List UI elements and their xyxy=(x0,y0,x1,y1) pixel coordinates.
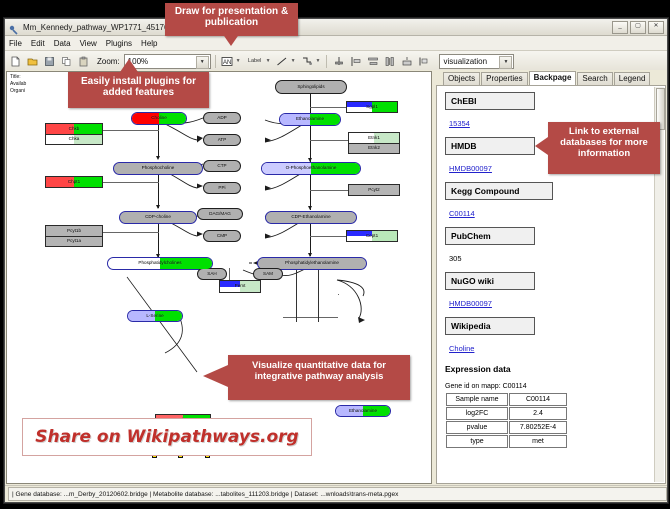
line-dropdown-chevron-icon[interactable]: ▼ xyxy=(291,58,296,64)
menu-item-view[interactable]: View xyxy=(80,39,97,48)
edge-chk-stub xyxy=(103,130,159,131)
svg-text:AN: AN xyxy=(223,60,231,66)
node-pcyt1a[interactable]: Pcyt1a xyxy=(45,236,103,247)
expression-data-table: Sample name C00114 log2FC 2.4 pvalue 7.8… xyxy=(445,392,568,449)
status-text: | Gene database: ...m_Derby_20120602.bri… xyxy=(8,487,667,501)
visualization-combobox[interactable]: visualization ▼ xyxy=(439,54,514,69)
node-cmp[interactable]: CMP xyxy=(203,230,241,242)
label-dropdown-button[interactable]: Label xyxy=(245,54,265,69)
zoom-label: Zoom: xyxy=(97,57,120,66)
paste-icon[interactable] xyxy=(76,54,91,69)
node-o-phosphoethanolamine[interactable]: O-Phosphoethanolamine xyxy=(261,162,361,175)
section-header-chebi: ChEBI xyxy=(445,92,535,110)
menu-item-file[interactable]: File xyxy=(9,39,22,48)
window-title: Mm_Kennedy_pathway_WP1771_45176.gpml xyxy=(23,23,188,32)
toolbar-separator xyxy=(215,55,216,68)
tab-legend[interactable]: Legend xyxy=(614,72,651,85)
callout-links-pointer xyxy=(535,137,548,155)
edge-phosphocholine-cdpcholine xyxy=(158,170,159,208)
link-wikipedia[interactable]: Choline xyxy=(449,344,474,353)
label-style-dropdown-icon[interactable]: ▼ xyxy=(236,58,241,64)
node-chpt1[interactable]: Chpt1 xyxy=(45,176,103,188)
node-ethanolamine-top[interactable]: Ethanolamine xyxy=(279,113,341,126)
save-icon[interactable] xyxy=(42,54,57,69)
toolbar-separator-2 xyxy=(326,55,327,68)
node-ctp[interactable]: CTP xyxy=(203,160,241,172)
node-cept1[interactable]: Cept1 xyxy=(346,230,398,242)
node-atp[interactable]: ATP xyxy=(203,134,241,146)
arrow-icon xyxy=(156,205,160,209)
menu-item-data[interactable]: Data xyxy=(54,39,71,48)
copy-icon[interactable] xyxy=(59,54,74,69)
node-ethanolamine-bottom[interactable]: Ethanolamine xyxy=(335,405,391,417)
distribute-horizontal-icon[interactable] xyxy=(365,54,380,69)
node-etnk2[interactable]: Etnk2 xyxy=(348,143,400,154)
tab-properties[interactable]: Properties xyxy=(481,72,527,85)
section-header-wikipedia: Wikipedia xyxy=(445,317,535,335)
edge-pcyt1-stub xyxy=(103,232,159,233)
tab-search[interactable]: Search xyxy=(577,72,612,85)
node-ppi[interactable]: PPi xyxy=(203,182,241,194)
node-etnk1[interactable]: Etnk1 xyxy=(348,132,400,143)
same-size-icon[interactable] xyxy=(382,54,397,69)
link-hmdb[interactable]: HMDB00097 xyxy=(449,164,492,173)
node-sah[interactable]: SAH xyxy=(197,268,227,280)
group-icon[interactable] xyxy=(416,54,431,69)
toolbar: Zoom: 100% ▼ AN ▼ Label ▼ ▼ ▼ xyxy=(5,51,667,72)
link-nugo[interactable]: HMDB00097 xyxy=(449,299,492,308)
side-panel-tabs: Objects Properties Backpage Search Legen… xyxy=(433,71,666,85)
link-chebi[interactable]: 15354 xyxy=(449,119,470,128)
menu-item-edit[interactable]: Edit xyxy=(31,39,45,48)
edge-cept1-stub xyxy=(310,236,348,237)
edge-etnk-stub xyxy=(310,140,348,141)
edge-ope-cdpetn xyxy=(310,172,311,210)
node-sgpl1[interactable]: Sgpl1 xyxy=(346,101,398,113)
visualization-value: visualization xyxy=(443,57,487,66)
callout-plugins-pointer xyxy=(120,59,138,72)
status-bar: | Gene database: ...m_Derby_20120602.bri… xyxy=(5,485,667,502)
gene-id-line: Gene id on mapp: C00114 xyxy=(445,383,653,390)
callout-links: Link to external databases for more info… xyxy=(548,122,660,174)
visualization-chevron-down-icon[interactable]: ▼ xyxy=(499,56,512,69)
new-file-icon[interactable] xyxy=(8,54,23,69)
cell-value: 2.4 xyxy=(509,407,567,420)
edge-chpt1-stub xyxy=(103,182,159,183)
edge-ethanolamine-ope xyxy=(310,124,311,162)
edge-sgpl1-stub xyxy=(310,107,346,108)
edge-pe-up-1 xyxy=(296,270,297,322)
table-row: type met xyxy=(446,435,567,448)
edge-ptdss2-stub xyxy=(338,294,339,295)
stack-icon[interactable] xyxy=(399,54,414,69)
edge-pcyt2-stub xyxy=(310,190,348,191)
maximize-button[interactable]: ▢ xyxy=(630,21,646,34)
edge-pisd-stub xyxy=(283,317,338,318)
menu-bar: File Edit Data View Plugins Help xyxy=(5,36,667,51)
cell-key: pvalue xyxy=(446,421,508,434)
align-top-icon[interactable] xyxy=(331,54,346,69)
cell-value: met xyxy=(509,435,567,448)
text-label-icon[interactable]: AN xyxy=(220,54,235,69)
title-bar: Mm_Kennedy_pathway_WP1771_45176.gpml _ ▢… xyxy=(5,19,667,36)
node-sphingolipids[interactable]: Sphingolipids xyxy=(275,80,347,94)
connector-icon[interactable] xyxy=(300,54,315,69)
node-cdp-choline[interactable]: CDP-choline xyxy=(119,211,197,224)
node-chkb[interactable]: Chkb xyxy=(45,123,103,134)
edge-cdpetn-pe xyxy=(310,220,311,256)
align-left-icon[interactable] xyxy=(348,54,363,69)
node-pcyt1b[interactable]: Pcyt1b xyxy=(45,225,103,236)
tab-backpage[interactable]: Backpage xyxy=(529,71,577,85)
section-header-kegg: Kegg Compound xyxy=(445,182,553,200)
node-chka[interactable]: Chka xyxy=(45,134,103,145)
chevron-down-icon[interactable]: ▼ xyxy=(196,56,209,69)
callout-visualize: Visualize quantitative data for integrat… xyxy=(228,355,410,400)
meta-title-label: Title: xyxy=(10,74,26,81)
cell-key: type xyxy=(446,435,508,448)
table-row: log2FC 2.4 xyxy=(446,407,567,420)
share-text: Share on Wikipathways.org xyxy=(35,427,298,447)
tab-objects[interactable]: Objects xyxy=(443,72,480,85)
node-adp[interactable]: ADP xyxy=(203,112,241,124)
arrow-icon xyxy=(308,206,312,210)
section-header-hmdb: HMDB xyxy=(445,137,535,155)
connector-dropdown-chevron-icon[interactable]: ▼ xyxy=(316,58,321,64)
callout-plugins: Easily install plugins for added feature… xyxy=(68,72,209,108)
table-row: pvalue 7.80252E-4 xyxy=(446,421,567,434)
node-l-serine-left[interactable]: L-Serine xyxy=(127,310,183,322)
node-dag-mag[interactable]: DAG/MAG xyxy=(197,208,243,220)
cell-value: C00114 xyxy=(509,393,567,406)
screenshot-root: Mm_Kennedy_pathway_WP1771_45176.gpml _ ▢… xyxy=(0,0,670,509)
callout-draw-pointer xyxy=(222,33,240,46)
node-phosphocholine[interactable]: Phosphocholine xyxy=(113,162,203,175)
section-header-pubchem: PubChem xyxy=(445,227,535,245)
menu-item-help[interactable]: Help xyxy=(141,39,157,48)
window-controls: _ ▢ ✕ xyxy=(612,21,664,34)
node-cdp-ethanolamine[interactable]: CDP-Ethanolamine xyxy=(265,211,357,224)
arrow-icon xyxy=(156,156,160,160)
close-button[interactable]: ✕ xyxy=(648,21,664,34)
edge-pe-up-2 xyxy=(318,270,319,322)
table-row: Sample name C00114 xyxy=(446,393,567,406)
line-icon[interactable] xyxy=(275,54,290,69)
expression-data-title: Expression data xyxy=(445,364,653,374)
pathway-meta: Title: Availab Organi xyxy=(10,74,26,95)
cell-key: Sample name xyxy=(446,393,508,406)
edge-cdpcholine-pc xyxy=(158,219,159,257)
meta-organism-label: Organi xyxy=(10,88,26,95)
cell-key: log2FC xyxy=(446,407,508,420)
menu-item-plugins[interactable]: Plugins xyxy=(106,39,132,48)
callout-share: Share on Wikipathways.org xyxy=(22,418,312,456)
cell-value: 7.80252E-4 xyxy=(509,421,567,434)
link-kegg[interactable]: C00114 xyxy=(449,209,475,218)
value-pubchem: 305 xyxy=(449,254,462,263)
node-sam[interactable]: SAM xyxy=(253,268,283,280)
callout-visualize-pointer xyxy=(203,365,228,387)
section-header-nugo: NuGO wiki xyxy=(445,272,535,290)
meta-available-label: Availab xyxy=(10,81,26,88)
node-phosphatidylcholines[interactable]: Phosphatidylcholines xyxy=(107,257,213,270)
node-pemt[interactable]: Pemt xyxy=(219,280,261,293)
label-dropdown-chevron-icon[interactable]: ▼ xyxy=(266,58,271,64)
node-choline-top[interactable]: Choline xyxy=(131,112,187,125)
edge-choline-phosphocholine xyxy=(158,120,159,158)
open-folder-icon[interactable] xyxy=(25,54,40,69)
node-pcyt2[interactable]: Pcyt2 xyxy=(348,184,400,196)
callout-draw: Draw for presentation & publication xyxy=(165,3,298,36)
minimize-button[interactable]: _ xyxy=(612,21,628,34)
app-icon xyxy=(8,22,19,33)
